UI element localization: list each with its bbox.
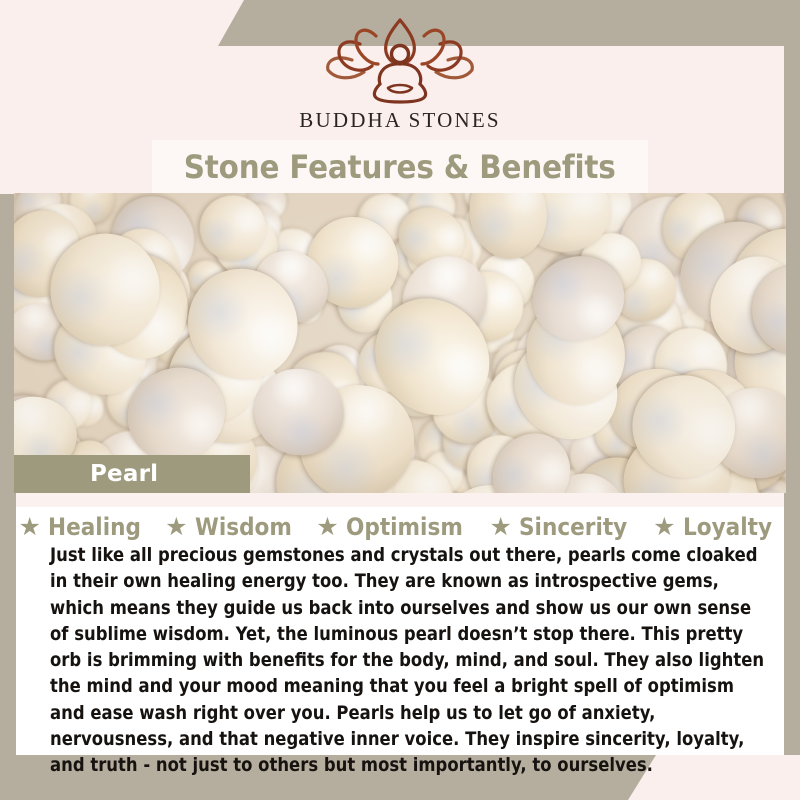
star-icon: ★ bbox=[316, 515, 338, 540]
brand-logo-block: BUDDHA STONES bbox=[0, 14, 800, 146]
body-paragraph: Just like all precious gemstones and cry… bbox=[50, 543, 768, 780]
star-icon: ★ bbox=[18, 515, 40, 540]
panel-top-tint bbox=[16, 493, 784, 507]
star-icon: ★ bbox=[653, 515, 675, 540]
benefit-item: ★Optimism bbox=[316, 513, 475, 541]
benefit-label: Loyalty bbox=[683, 513, 772, 541]
benefit-label: Optimism bbox=[346, 513, 463, 541]
decoration-right-bar bbox=[784, 46, 800, 755]
star-icon: ★ bbox=[165, 515, 187, 540]
pearls-photo bbox=[14, 193, 786, 493]
poster-root: BUDDHA STONES Stone Features & Benefits … bbox=[0, 0, 800, 800]
benefit-item: ★Loyalty bbox=[653, 513, 781, 541]
brand-name: BUDDHA STONES bbox=[299, 108, 501, 133]
pearls-photo-canvas bbox=[14, 193, 786, 493]
page-title: Stone Features & Benefits bbox=[184, 148, 616, 186]
lotus-meditation-figure-icon bbox=[314, 14, 486, 106]
content-panel: ★Healing★Wisdom★Optimism★Sincerity★Loyal… bbox=[16, 493, 784, 755]
benefits-row: ★Healing★Wisdom★Optimism★Sincerity★Loyal… bbox=[16, 513, 784, 541]
stone-name-band: Pearl bbox=[14, 455, 250, 493]
benefit-item: ★Wisdom bbox=[165, 513, 302, 541]
benefit-label: Healing bbox=[48, 513, 141, 541]
stone-name-label: Pearl bbox=[90, 461, 158, 487]
title-banner: Stone Features & Benefits bbox=[152, 140, 648, 193]
benefit-label: Wisdom bbox=[195, 513, 292, 541]
benefit-label: Sincerity bbox=[519, 513, 627, 541]
benefit-item: ★Healing bbox=[18, 513, 151, 541]
benefit-item: ★Sincerity bbox=[489, 513, 639, 541]
star-icon: ★ bbox=[489, 515, 511, 540]
